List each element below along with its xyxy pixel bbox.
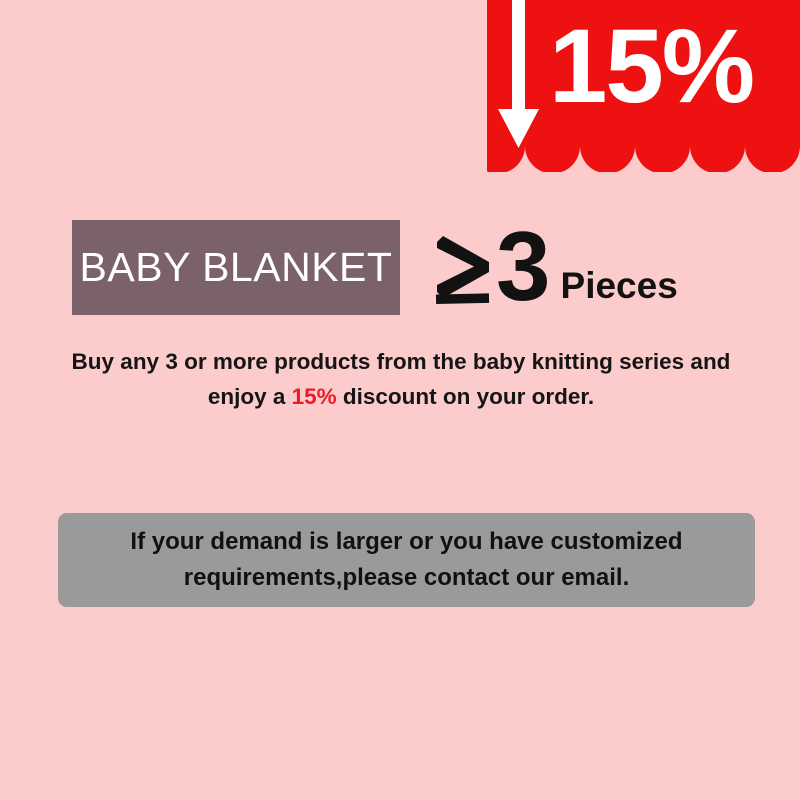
- offer-line-2-suffix: discount on your order.: [337, 384, 595, 409]
- contact-notice-text: If your demand is larger or you have cus…: [58, 524, 755, 596]
- offer-description: Buy any 3 or more products from the baby…: [56, 344, 746, 414]
- offer-line-2-prefix: enjoy a: [208, 384, 292, 409]
- offer-discount-highlight: 15%: [292, 384, 337, 409]
- promo-banner-page: 15% BABY BLANKET 3 Pieces Buy any 3 or m…: [0, 0, 800, 800]
- contact-notice-box: If your demand is larger or you have cus…: [58, 513, 755, 607]
- quantity-number: 3: [496, 216, 549, 316]
- category-label-text: BABY BLANKET: [80, 244, 393, 291]
- greater-than-or-equal-icon: [434, 236, 492, 308]
- offer-line-1: Buy any 3 or more products from the baby…: [72, 349, 731, 374]
- category-label-box: BABY BLANKET: [72, 220, 400, 315]
- quantity-unit-label: Pieces: [561, 266, 678, 306]
- quantity-requirement: 3 Pieces: [434, 216, 678, 320]
- banner-shape: [487, 0, 800, 172]
- discount-banner: 15%: [487, 0, 800, 172]
